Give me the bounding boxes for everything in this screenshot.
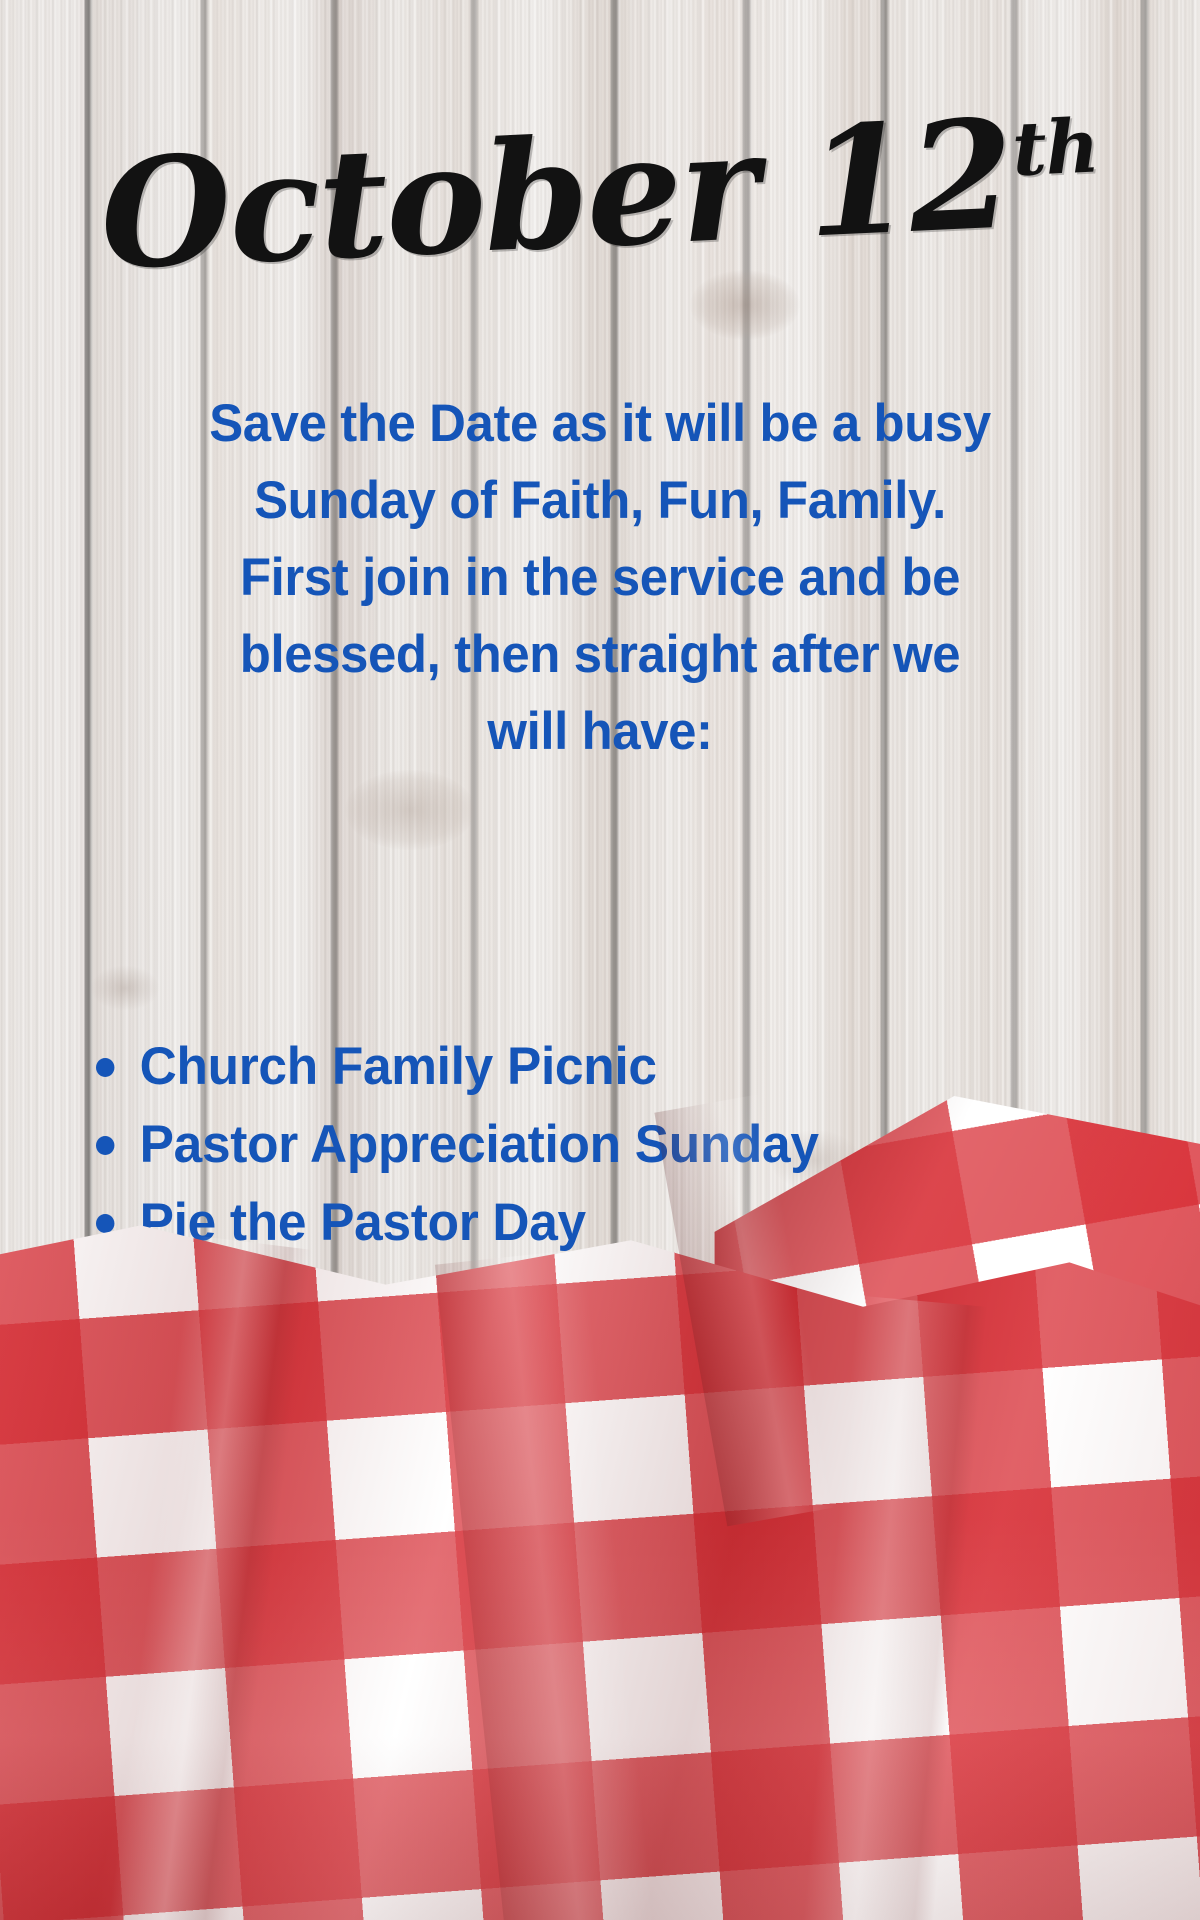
list-item: Church Family Picnic xyxy=(96,1028,819,1106)
list-item-label: Church Family Picnic xyxy=(140,1028,657,1106)
flyer-poster: October 12th Save the Date as it will be… xyxy=(0,0,1200,1920)
event-activities-list: Church Family Picnic Pastor Appreciation… xyxy=(96,1028,819,1262)
list-item-label: Pastor Appreciation Sunday xyxy=(140,1106,819,1184)
body-line: First join in the service and be xyxy=(74,539,1126,616)
headline-ordinal-suffix: th xyxy=(1010,103,1100,193)
body-line: will have: xyxy=(74,693,1126,770)
body-paragraph: Save the Date as it will be a busy Sunda… xyxy=(74,385,1126,770)
body-line: blessed, then straight after we xyxy=(74,616,1126,693)
bullet-dot-icon xyxy=(96,1136,114,1155)
bullet-dot-icon xyxy=(96,1058,114,1077)
body-line: Sunday of Faith, Fun, Family. xyxy=(74,462,1126,539)
list-item: Pastor Appreciation Sunday xyxy=(96,1106,819,1184)
body-line: Save the Date as it will be a busy xyxy=(74,385,1126,462)
gingham-tablecloth-front xyxy=(0,1218,1200,1920)
cloth-shading xyxy=(0,1218,1200,1920)
bullet-dot-icon xyxy=(96,1214,114,1233)
